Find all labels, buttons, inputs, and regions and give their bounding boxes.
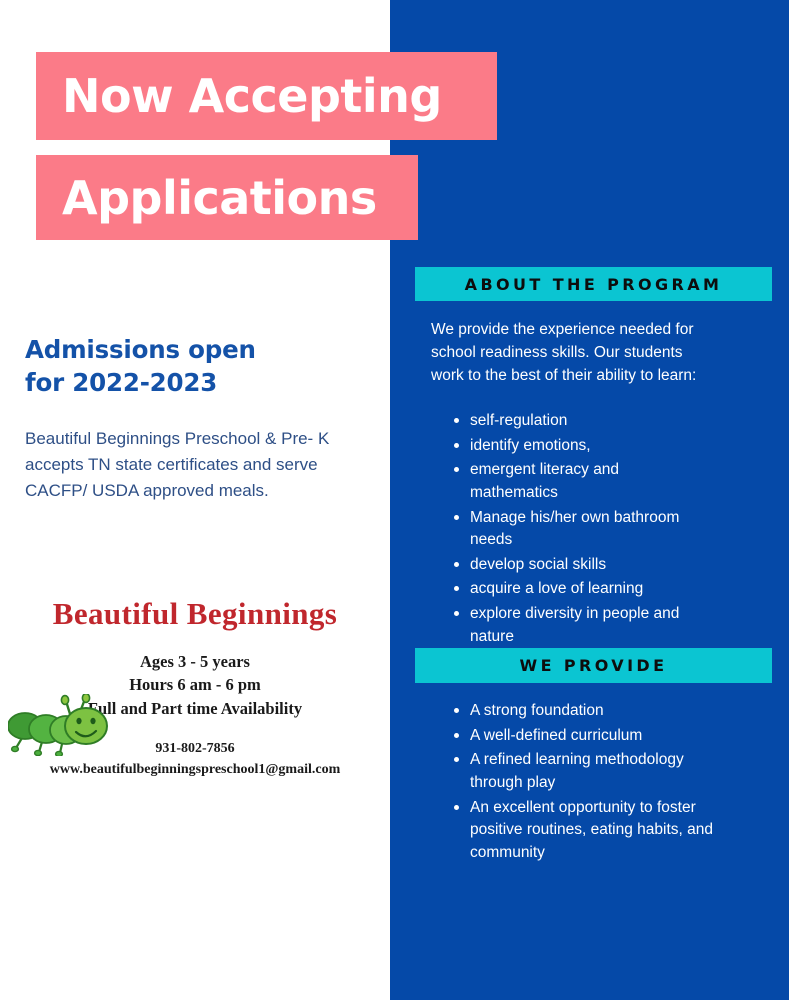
about-program-band: ABOUT THE PROGRAM [415, 267, 772, 301]
list-item: An excellent opportunity to foster posit… [448, 797, 718, 865]
list-item: self-regulation [448, 410, 710, 433]
list-item: A refined learning methodology through p… [448, 749, 718, 794]
list-item: A well-defined curriculum [448, 725, 718, 748]
headline-banner-secondary: Applications [36, 155, 418, 240]
we-provide-band: WE PROVIDE [415, 648, 772, 683]
list-item: acquire a love of learning [448, 578, 710, 601]
we-provide-bullet-list: A strong foundation A well-defined curri… [448, 700, 718, 866]
list-item: emergent literacy and mathematics [448, 459, 710, 504]
admissions-heading-line-1: Admissions open [25, 334, 365, 367]
list-item: A strong foundation [448, 700, 718, 723]
flyer-page: Now Accepting Applications Admissions op… [0, 0, 789, 1000]
brand-email[interactable]: www.beautifulbeginningspreschool1@gmail.… [0, 760, 390, 781]
brand-name: Beautiful Beginnings [0, 596, 390, 632]
caterpillar-icon [8, 694, 112, 756]
headline-banner-primary: Now Accepting [36, 52, 497, 140]
about-program-bullet-list: self-regulation identify emotions, emerg… [448, 410, 710, 650]
about-program-label: ABOUT THE PROGRAM [465, 275, 723, 294]
list-item: explore diversity in people and nature [448, 603, 710, 648]
we-provide-label: WE PROVIDE [520, 656, 668, 675]
admissions-body-text: Beautiful Beginnings Preschool & Pre- K … [25, 426, 377, 503]
list-item: identify emotions, [448, 435, 710, 458]
admissions-heading-line-2: for 2022-2023 [25, 367, 365, 400]
about-program-intro: We provide the experience needed for sch… [431, 319, 717, 388]
headline-line-1: Now Accepting [36, 73, 442, 119]
headline-line-2: Applications [36, 175, 377, 221]
brand-detail-ages: Ages 3 - 5 years [0, 650, 390, 673]
admissions-heading: Admissions open for 2022-2023 [25, 334, 365, 400]
list-item: develop social skills [448, 554, 710, 577]
list-item: Manage his/her own bathroom needs [448, 507, 710, 552]
